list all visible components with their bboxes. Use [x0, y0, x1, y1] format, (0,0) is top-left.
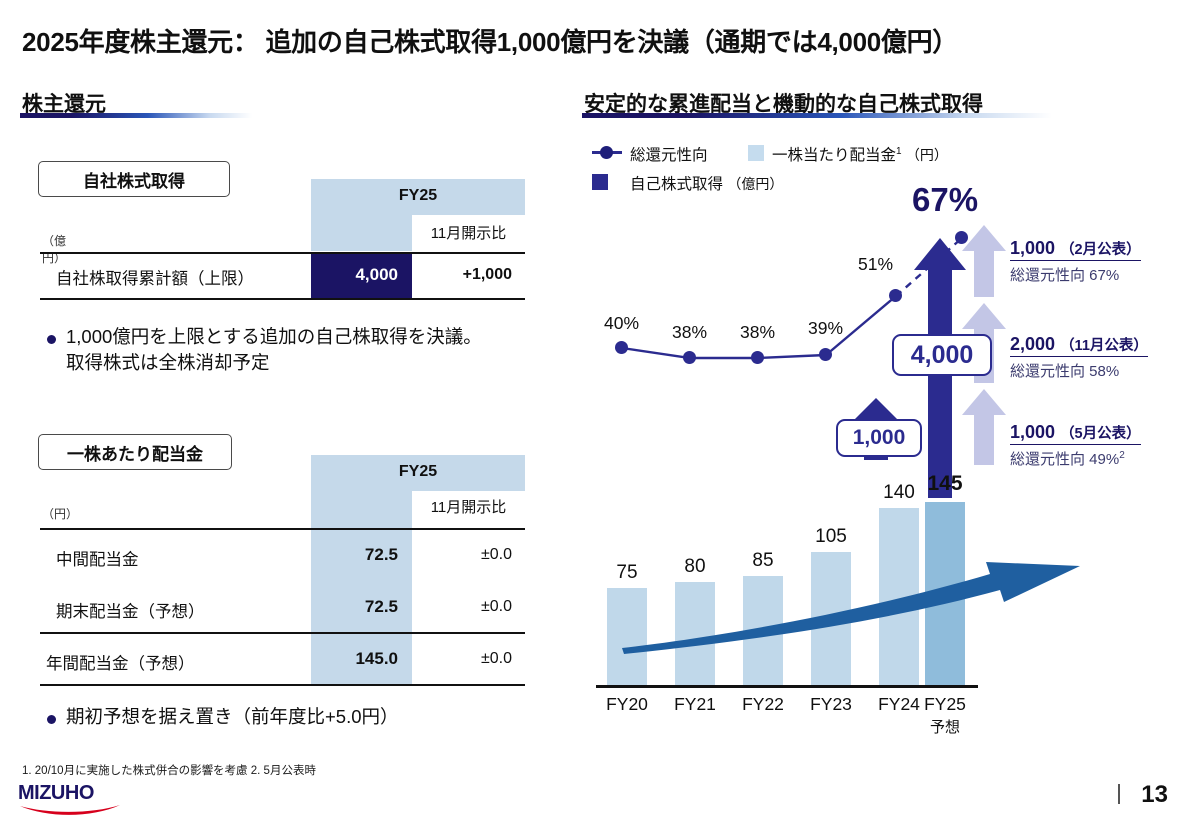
legend-label-buyback: 自己株式取得 （億円） [630, 172, 783, 194]
buyback-row-delta: +1,000 [412, 266, 512, 284]
page-number: 13 [1141, 781, 1168, 809]
x-axis-line [596, 685, 978, 688]
dividend-bullet-dot [47, 715, 56, 724]
payout-label-fy24: 51% [838, 254, 913, 275]
payout-point-fy22 [751, 351, 764, 364]
buyback-rule-top [40, 252, 525, 254]
dividend-row-value-1: 72.5 [311, 597, 398, 617]
annotation-1-title: 2,000 （11月公表） [1010, 334, 1148, 357]
dividend-rule-top [40, 528, 525, 530]
right-heading-rule [582, 113, 1052, 118]
payout-point-fy21 [683, 351, 696, 364]
legend-label-payout-ratio: 総還元性向 [630, 143, 708, 165]
buyback-pill-label: 自社株式取得 [38, 161, 230, 197]
buyback-unit: （億円） [42, 232, 66, 266]
payout-point-fy20 [615, 341, 628, 354]
legend-navy-square-marker [592, 174, 608, 190]
mizuho-logo-text: MIZUHO [18, 783, 122, 803]
bar-label-fy25: 145 [919, 472, 971, 496]
buyback-bullet-text: 1,000億円を上限とする追加の自己株取得を決議。 取得株式は全株消却予定 [66, 324, 536, 375]
payout-point-fy24 [889, 289, 902, 302]
mizuho-logo: MIZUHO [18, 783, 122, 818]
dividend-rule-bottom [40, 684, 525, 686]
payout-label-fy20: 40% [584, 313, 659, 334]
x-sublabel-fy25: 予想 [915, 716, 975, 737]
dividend-row-value-0: 72.5 [311, 545, 398, 565]
dividend-row-delta-0: ±0.0 [412, 546, 512, 564]
buyback-row-label: 自社株取得累計額（上限） [56, 265, 254, 289]
payout-point-fy23 [819, 348, 832, 361]
buyback-col-compare: 11月開示比 [412, 222, 525, 243]
left-heading-rule [20, 113, 252, 118]
dividend-col-fy: FY25 [311, 463, 525, 481]
annotation-0-title: 1,000 （2月公表） [1010, 238, 1141, 261]
legend-dot-marker [600, 146, 613, 159]
dividend-bullet-text: 期初予想を据え置き（前年度比+5.0円） [66, 704, 536, 730]
buyback-col-fy: FY25 [311, 187, 525, 205]
footnote: 1. 20/10月に実施した株式併合の影響を考慮 2. 5月公表時 [22, 762, 316, 778]
dividend-pill-label: 一株あたり配当金 [38, 434, 232, 470]
legend-label-dps: 一株当たり配当金1 （円） [772, 143, 948, 165]
buyback-bullet-dot [47, 335, 56, 344]
buyback-rule-bottom [40, 298, 525, 300]
x-label-fy21: FY21 [665, 694, 725, 715]
payout-label-fy22: 38% [720, 322, 795, 343]
dividend-unit: （円） [42, 505, 78, 522]
annotation-2-superscript: 2 [1119, 450, 1125, 461]
dividend-col-compare: 11月開示比 [412, 496, 525, 517]
buyback-fy-col-band [311, 215, 412, 251]
growth-swoosh-arrow [618, 540, 1088, 660]
page-number-separator [1118, 784, 1120, 804]
dividend-row-delta-1: ±0.0 [412, 598, 512, 616]
x-label-fy25: FY25 [915, 694, 975, 715]
dividend-row-label-2: 年間配当金（予想） [46, 650, 195, 674]
legend-dps-superscript: 1 [896, 146, 902, 157]
bar-label-fy24: 140 [874, 482, 924, 504]
dividend-row-delta-2: ±0.0 [412, 650, 512, 668]
dividend-rule-mid [40, 632, 525, 634]
dividend-row-value-2: 145.0 [311, 649, 398, 669]
payout-label-fy21: 38% [652, 322, 727, 343]
buyback-total-callout: 4,000 [892, 334, 992, 376]
x-label-fy22: FY22 [733, 694, 793, 715]
legend-light-square-marker [748, 145, 764, 161]
annotation-0-sub: 総還元性向 67% [1010, 264, 1119, 285]
payout-label-fy23: 39% [788, 318, 863, 339]
mizuho-logo-swoosh [18, 804, 122, 818]
dividend-row-label-0: 中間配当金 [56, 546, 139, 570]
page-title: 2025年度株主還元： 追加の自己株式取得1,000億円を決議（通期では4,00… [22, 22, 1172, 59]
x-label-fy20: FY20 [597, 694, 657, 715]
buyback-row-value: 4,000 [311, 265, 398, 285]
annotation-2-sub: 総還元性向 49%2 [1010, 448, 1125, 469]
annotation-1-sub: 総還元性向 58% [1010, 360, 1119, 381]
buyback-increment-callout: 1,000 [836, 419, 922, 457]
x-label-fy23: FY23 [801, 694, 861, 715]
annotation-2-title: 1,000 （5月公表） [1010, 422, 1141, 445]
dividend-row-label-1: 期末配当金（予想） [56, 598, 205, 622]
